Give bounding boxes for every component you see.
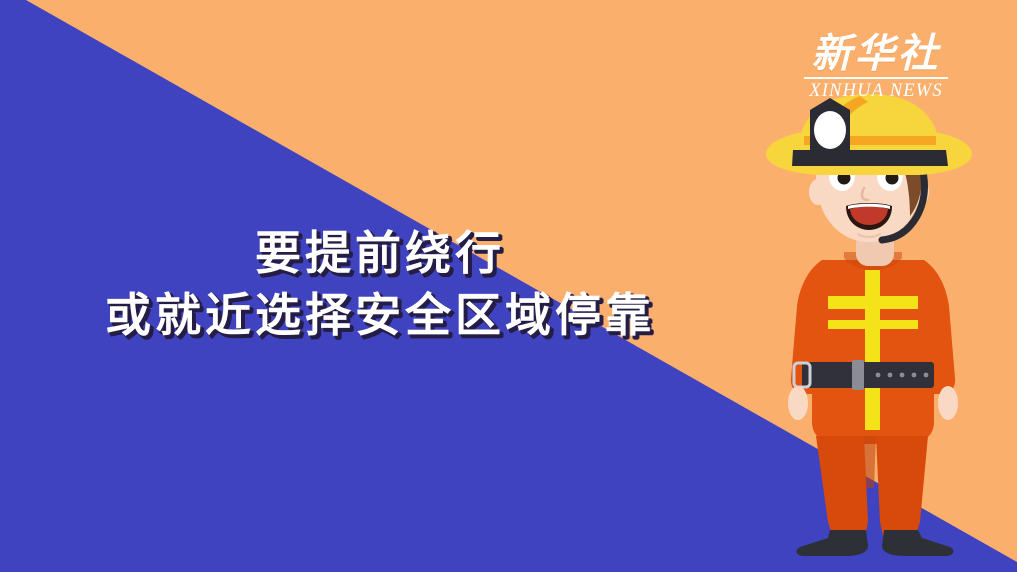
firefighter-mascot xyxy=(760,92,990,562)
utility-belt xyxy=(794,360,934,390)
boots xyxy=(797,530,954,556)
video-frame: 新华社 XINHUA NEWS 要提前绕行 或就近选择安全区域停靠 xyxy=(0,0,1017,572)
trousers xyxy=(816,436,928,540)
fire-helmet xyxy=(766,94,972,175)
